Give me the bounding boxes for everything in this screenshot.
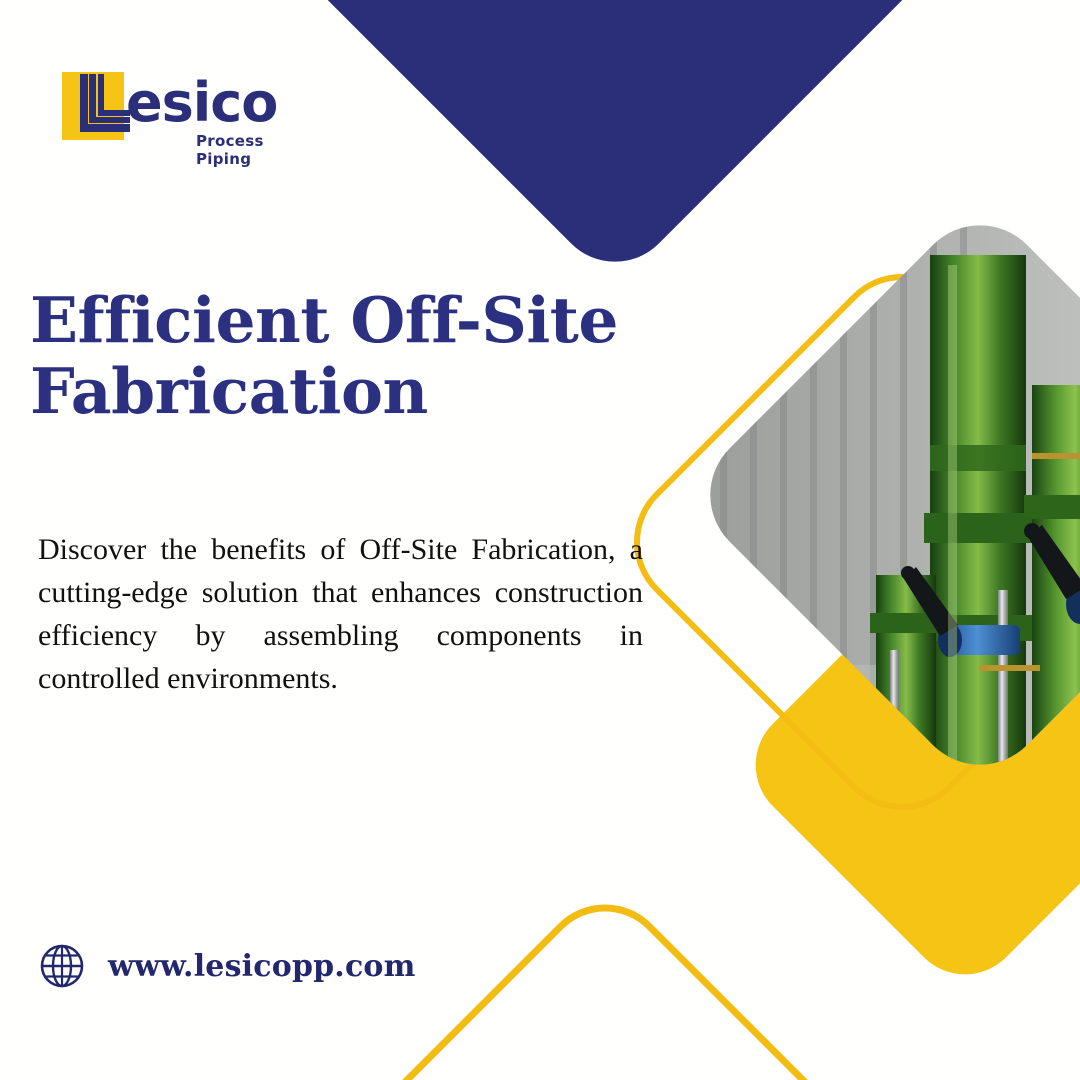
logo-tagline: Process Piping [196, 132, 292, 168]
poster-canvas: esico Process Piping Efficient Off-Site … [0, 0, 1080, 1080]
nested-L-corner-icon [62, 72, 132, 146]
footer-website[interactable]: www.lesicopp.com [38, 938, 416, 994]
page-title: Efficient Off-Site Fabrication [30, 285, 670, 426]
logo-wordmark: esico [126, 74, 277, 132]
brand-logo[interactable]: esico Process Piping [62, 66, 292, 162]
globe-icon [38, 942, 86, 990]
navy-diamond-decor [283, 0, 948, 287]
body-paragraph: Discover the benefits of Off-Site Fabric… [38, 528, 643, 700]
website-url-text: www.lesicopp.com [108, 949, 416, 984]
